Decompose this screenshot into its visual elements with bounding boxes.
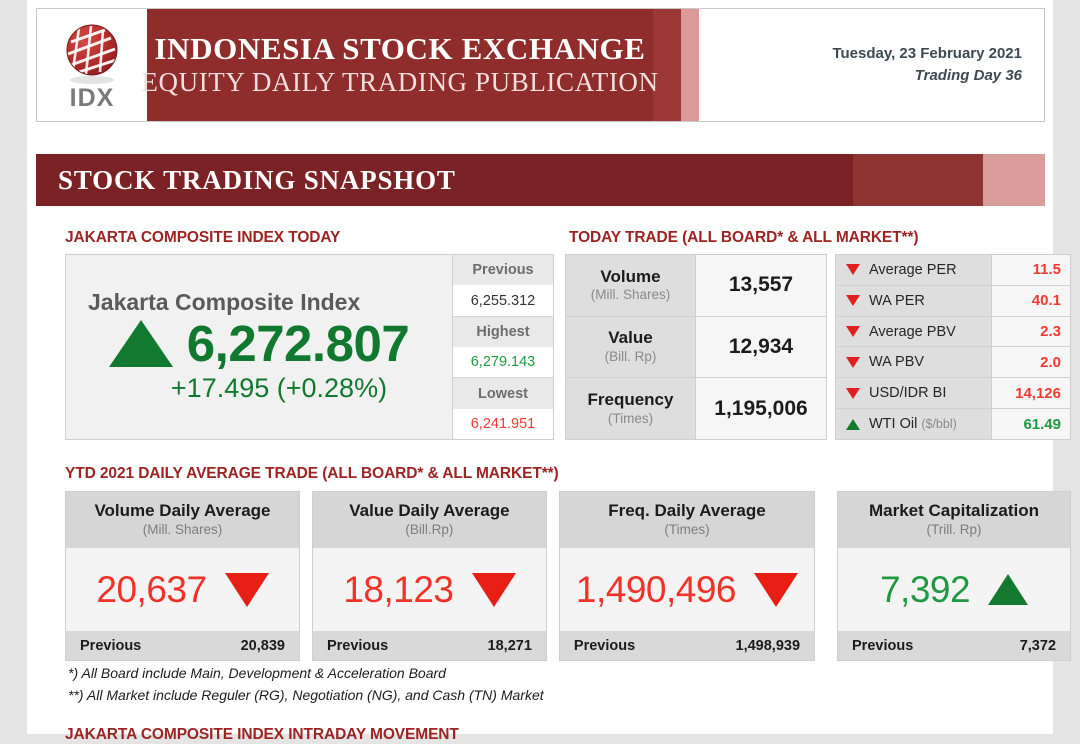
ytd-card-header: Freq. Daily Average (Times)	[560, 492, 814, 548]
ratio-label: Average PER	[869, 262, 957, 278]
ratio-label: Average PBV	[869, 324, 956, 340]
ytd-card-body: 1,490,496	[560, 548, 814, 631]
ratio-value: 61.49	[992, 409, 1070, 439]
publication-date: Tuesday, 23 February 2021	[832, 43, 1022, 66]
today-trade-value: 12,934	[696, 317, 826, 378]
triangle-down-icon	[846, 264, 860, 275]
snapshot-banner-accent-light	[983, 154, 1045, 206]
ytd-previous-value: 18,271	[488, 638, 532, 654]
table-row: WA PBV 2.0	[836, 347, 1070, 378]
publication-title: INDONESIA STOCK EXCHANGE	[155, 31, 646, 68]
jci-index-name: Jakarta Composite Index	[88, 289, 360, 316]
ratio-value: 2.3	[992, 317, 1070, 347]
ytd-card-value: Value Daily Average (Bill.Rp) 18,123 Pre…	[312, 491, 547, 661]
ytd-card-body: 7,392	[838, 548, 1070, 631]
idx-logo-text: IDX	[70, 86, 115, 111]
snapshot-banner: STOCK TRADING SNAPSHOT	[36, 154, 1045, 206]
ytd-previous-value: 20,839	[241, 638, 285, 654]
today-trade-table: Volume (Mill. Shares) 13,557 Value (Bill…	[565, 254, 827, 440]
ytd-card-footer: Previous 7,372	[838, 631, 1070, 660]
table-row: Average PBV 2.3	[836, 317, 1070, 348]
ytd-card-title: Volume Daily Average	[94, 501, 270, 521]
today-trade-value: 13,557	[696, 255, 826, 316]
ytd-card-unit: (Trill. Rp)	[927, 521, 982, 539]
ytd-card-body: 20,637	[66, 548, 299, 631]
today-trade-label: Frequency	[588, 390, 674, 410]
ytd-card-value: 1,490,496	[576, 571, 736, 608]
ytd-previous-label: Previous	[80, 638, 141, 654]
ytd-previous-label: Previous	[327, 638, 388, 654]
table-row: WA PER 40.1	[836, 286, 1070, 317]
triangle-down-icon	[225, 573, 269, 607]
ratio-value: 40.1	[992, 286, 1070, 316]
footnote-all-market: **) All Market include Reguler (RG), Neg…	[68, 687, 544, 703]
table-row: WTI Oil ($/bbl) 61.49	[836, 409, 1070, 439]
triangle-down-icon	[754, 573, 798, 607]
masthead-title-band: INDONESIA STOCK EXCHANGE EQUITY DAILY TR…	[147, 9, 653, 121]
footnote-all-board: *) All Board include Main, Development &…	[68, 665, 446, 681]
today-trade-value: 1,195,006	[696, 378, 826, 439]
ytd-card-footer: Previous 18,271	[313, 631, 546, 660]
today-trade-label-cell: Volume (Mill. Shares)	[566, 255, 696, 316]
today-trade-label-cell: Value (Bill. Rp)	[566, 317, 696, 378]
snapshot-banner-title: STOCK TRADING SNAPSHOT	[58, 165, 456, 196]
masthead-date-box: Tuesday, 23 February 2021 Trading Day 36	[699, 9, 1044, 121]
jci-index-change: +17.495 (+0.28%)	[171, 373, 387, 404]
triangle-down-icon	[846, 326, 860, 337]
ytd-card-frequency: Freq. Daily Average (Times) 1,490,496 Pr…	[559, 491, 815, 661]
ytd-card-title: Market Capitalization	[869, 501, 1039, 521]
ratio-label-cell: Average PBV	[836, 317, 992, 347]
ratio-label: WA PBV	[869, 354, 924, 370]
jci-stat-value: 6,241.951	[453, 409, 553, 439]
ytd-card-title: Freq. Daily Average	[608, 501, 765, 521]
ytd-card-market-capitalization: Market Capitalization (Trill. Rp) 7,392 …	[837, 491, 1071, 661]
publication-subtitle: EQUITY DAILY TRADING PUBLICATION	[141, 67, 658, 99]
jci-stats-column: Previous 6,255.312 Highest 6,279.143 Low…	[452, 255, 553, 439]
ratio-value: 2.0	[992, 347, 1070, 377]
table-row: USD/IDR BI 14,126	[836, 378, 1070, 409]
ytd-previous-label: Previous	[852, 638, 913, 654]
today-trade-label: Volume	[600, 267, 660, 287]
jci-stat-label: Lowest	[453, 378, 553, 408]
ytd-card-footer: Previous 20,839	[66, 631, 299, 660]
ratio-label-cell: WTI Oil ($/bbl)	[836, 409, 992, 439]
jci-stat-label: Previous	[453, 255, 553, 285]
triangle-down-icon	[846, 357, 860, 368]
ytd-card-unit: (Bill.Rp)	[405, 521, 453, 539]
table-row: Average PER 11.5	[836, 255, 1070, 286]
jci-stat-label: Highest	[453, 317, 553, 347]
intraday-section-heading: JAKARTA COMPOSITE INDEX INTRADAY MOVEMEN…	[65, 726, 459, 744]
ytd-previous-label: Previous	[574, 638, 635, 654]
ratio-label: WTI Oil	[869, 416, 917, 432]
ytd-card-value: 7,392	[880, 571, 970, 608]
table-row: Volume (Mill. Shares) 13,557	[566, 255, 826, 317]
ytd-previous-value: 1,498,939	[736, 638, 801, 654]
ratio-label-cell: Average PER	[836, 255, 992, 285]
ytd-card-body: 18,123	[313, 548, 546, 631]
jci-stat-lowest: Lowest 6,241.951	[453, 378, 553, 439]
market-ratios-table: Average PER 11.5 WA PER 40.1 Average PBV…	[835, 254, 1071, 440]
ytd-card-footer: Previous 1,498,939	[560, 631, 814, 660]
table-row: Frequency (Times) 1,195,006	[566, 378, 826, 439]
snapshot-banner-accent-mid	[853, 154, 983, 206]
snapshot-banner-main: STOCK TRADING SNAPSHOT	[36, 154, 853, 206]
triangle-down-icon	[846, 388, 860, 399]
ytd-card-value: 18,123	[343, 571, 453, 608]
ytd-card-value: 20,637	[96, 571, 206, 608]
triangle-up-icon	[846, 419, 860, 430]
today-trade-label: Value	[608, 328, 652, 348]
idx-logo: IDX	[37, 9, 147, 121]
ytd-card-header: Value Daily Average (Bill.Rp)	[313, 492, 546, 548]
ratio-unit: ($/bbl)	[921, 417, 956, 431]
masthead: IDX INDONESIA STOCK EXCHANGE EQUITY DAIL…	[36, 8, 1045, 122]
ytd-section-heading: YTD 2021 DAILY AVERAGE TRADE (ALL BOARD*…	[65, 465, 559, 483]
table-row: Value (Bill. Rp) 12,934	[566, 317, 826, 379]
jci-stat-previous: Previous 6,255.312	[453, 255, 553, 317]
ratio-label-cell: WA PER	[836, 286, 992, 316]
publication-page: IDX INDONESIA STOCK EXCHANGE EQUITY DAIL…	[27, 0, 1053, 734]
today-trade-unit: (Mill. Shares)	[591, 286, 671, 304]
masthead-accent-mid	[653, 9, 681, 121]
masthead-accent-light	[681, 9, 699, 121]
ytd-daily-average-cards: Volume Daily Average (Mill. Shares) 20,6…	[65, 491, 1071, 661]
ytd-card-unit: (Mill. Shares)	[143, 521, 223, 539]
today-trade-section-heading: TODAY TRADE (ALL BOARD* & ALL MARKET**)	[569, 229, 918, 247]
ytd-card-header: Volume Daily Average (Mill. Shares)	[66, 492, 299, 548]
jakarta-composite-index-panel: Jakarta Composite Index 6,272.807 +17.49…	[65, 254, 554, 440]
ratio-value: 14,126	[992, 378, 1070, 408]
ytd-card-unit: (Times)	[664, 521, 709, 539]
ytd-previous-value: 7,372	[1020, 638, 1056, 654]
jci-stat-value: 6,279.143	[453, 347, 553, 377]
triangle-down-icon	[846, 295, 860, 306]
triangle-up-icon	[109, 320, 173, 367]
ratio-value: 11.5	[992, 255, 1070, 285]
ratio-label: WA PER	[869, 293, 925, 309]
ytd-card-volume: Volume Daily Average (Mill. Shares) 20,6…	[65, 491, 300, 661]
ratio-label-cell: USD/IDR BI	[836, 378, 992, 408]
triangle-up-icon	[988, 574, 1028, 605]
triangle-down-icon	[472, 573, 516, 607]
idx-globe-logo	[59, 22, 125, 88]
jci-index-value: 6,272.807	[187, 318, 409, 369]
today-trade-unit: (Bill. Rp)	[605, 348, 657, 366]
jci-stat-highest: Highest 6,279.143	[453, 317, 553, 379]
jci-stat-value: 6,255.312	[453, 285, 553, 315]
jci-main-block: Jakarta Composite Index 6,272.807 +17.49…	[66, 255, 452, 439]
ytd-card-header: Market Capitalization (Trill. Rp)	[838, 492, 1070, 548]
today-trade-label-cell: Frequency (Times)	[566, 378, 696, 439]
today-trade-unit: (Times)	[608, 410, 653, 428]
ratio-label: USD/IDR BI	[869, 385, 946, 401]
jci-value-row: 6,272.807	[109, 318, 409, 369]
jci-section-heading: JAKARTA COMPOSITE INDEX TODAY	[65, 229, 340, 247]
ratio-label-cell: WA PBV	[836, 347, 992, 377]
ytd-card-title: Value Daily Average	[349, 501, 509, 521]
trading-day: Trading Day 36	[915, 65, 1022, 88]
